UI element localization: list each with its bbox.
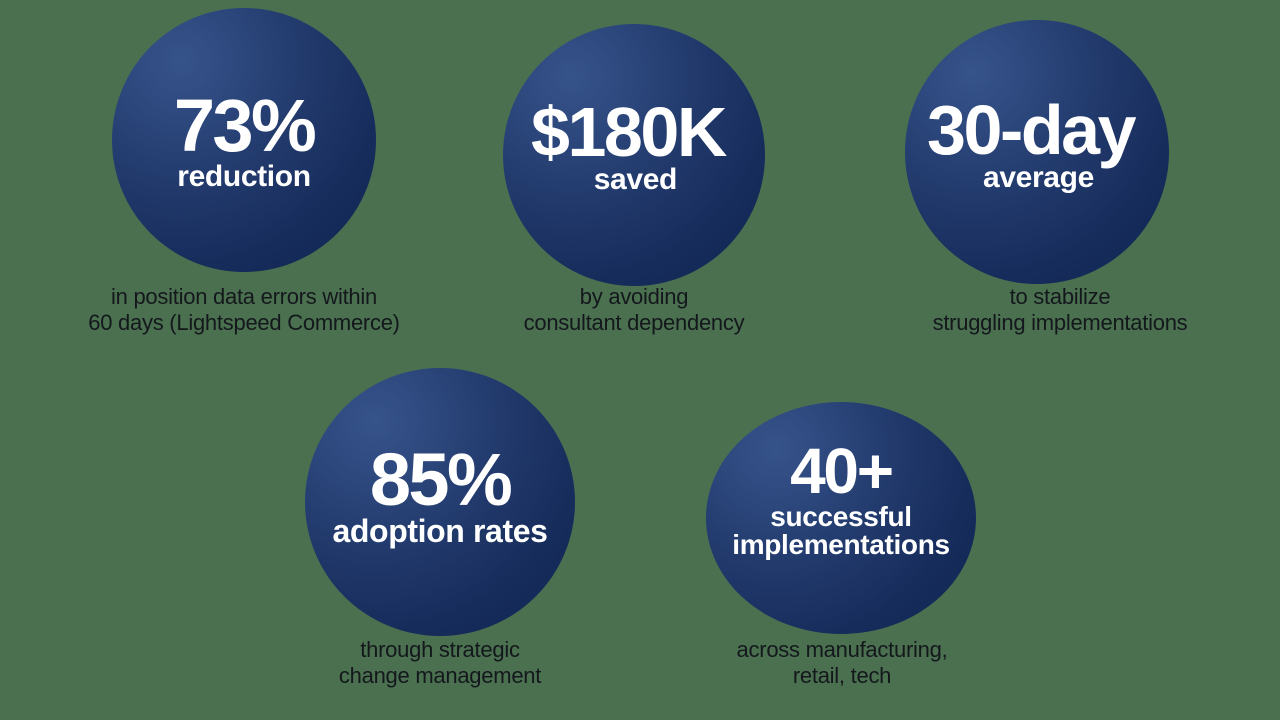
- stat-bubble-content: 85% adoption rates: [305, 446, 575, 547]
- stat-bubble: 40+ successful implementations: [706, 402, 976, 634]
- stat-number: 85%: [370, 446, 510, 514]
- stat-bubble-content: 30-day average: [905, 98, 1169, 193]
- stat-bubble: 30-day average: [905, 20, 1169, 284]
- stat-bubble-content: 40+ successful implementations: [706, 442, 976, 560]
- stat-caption: to stabilize struggling implementations: [850, 284, 1270, 335]
- stat-caption: across manufacturing, retail, tech: [652, 637, 1032, 688]
- stat-bubble-content: 73% reduction: [112, 92, 376, 192]
- stat-caption: in position data errors within 60 days (…: [24, 284, 464, 335]
- stat-number: 73%: [174, 92, 314, 160]
- stat-bubble: $180K saved: [503, 24, 765, 286]
- stat-sublabel: successful implementations: [706, 503, 976, 560]
- stat-bubble-content: $180K saved: [503, 100, 765, 195]
- stat-caption: through strategic change management: [250, 637, 630, 688]
- stat-number: 30-day: [927, 98, 1134, 162]
- stat-number: $180K: [531, 100, 725, 164]
- stat-caption: by avoiding consultant dependency: [434, 284, 834, 335]
- stat-sublabel: average: [983, 163, 1094, 193]
- stats-infographic: 73% reduction in position data errors wi…: [0, 0, 1280, 720]
- stat-sublabel: saved: [594, 165, 677, 195]
- stat-sublabel: adoption rates: [332, 515, 547, 547]
- stat-bubble: 73% reduction: [112, 8, 376, 272]
- stat-bubble: 85% adoption rates: [305, 368, 575, 636]
- stat-sublabel: reduction: [177, 162, 310, 192]
- stat-number: 40+: [790, 442, 892, 501]
